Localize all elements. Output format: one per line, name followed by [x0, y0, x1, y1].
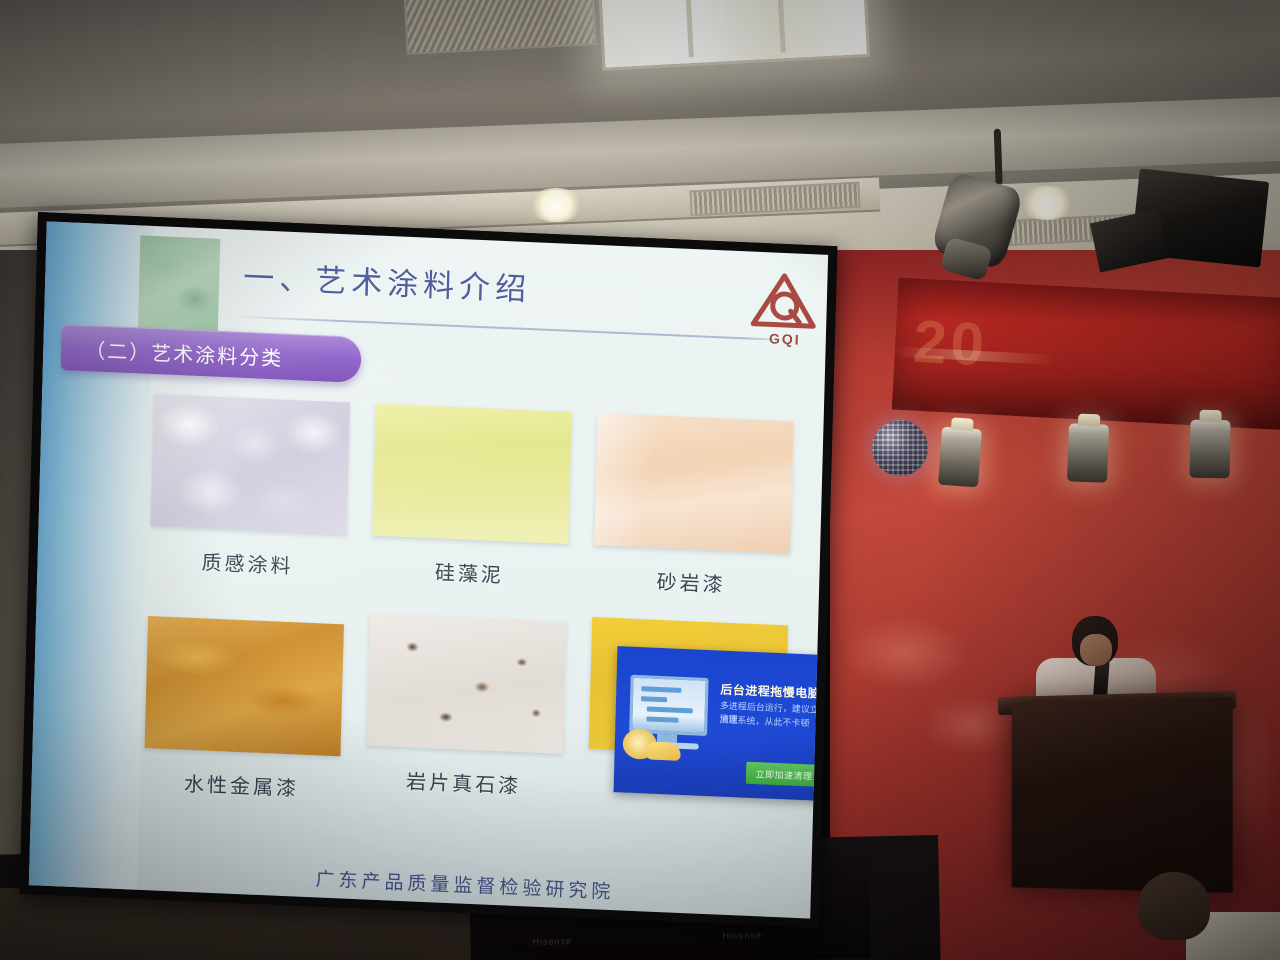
grid-item-0: 质感涂料 [149, 394, 350, 581]
diatom-mud-swatch [372, 404, 571, 544]
banner-text: 20 [912, 307, 990, 380]
slide-left-accent-strip [29, 221, 155, 889]
grid-item-1-label: 硅藻泥 [371, 554, 568, 591]
grid-item-3-label: 水性金属漆 [143, 766, 340, 803]
popup-headline: 后台进程拖慢电脑速度 [720, 681, 828, 703]
sandstone-paint-swatch [594, 413, 793, 553]
stage-spotlight-1 [938, 427, 982, 488]
gqi-triangle-q-icon [750, 272, 817, 331]
stage-spotlight-3 [1189, 420, 1230, 479]
popup-cta-button[interactable]: 立即加速清理 [746, 762, 823, 787]
slide-title: 一、艺术涂料介绍 [243, 252, 532, 309]
monitor-brand-left: Hisense [532, 936, 572, 947]
grid-item-3: 水性金属漆 [143, 616, 344, 803]
gqi-logo: GQI [743, 271, 827, 356]
gqi-logo-text: GQI [744, 329, 826, 348]
grid-item-2-label: 砂岩漆 [593, 563, 790, 600]
presenter-face [1080, 634, 1112, 666]
par-can-stage-light [1131, 168, 1269, 267]
ceiling-downlight-1 [528, 188, 584, 222]
podium [1012, 697, 1233, 893]
grid-item-4-label: 岩片真石漆 [365, 763, 562, 800]
texture-paint-swatch [151, 394, 350, 534]
stone-chip-paint-swatch [367, 614, 566, 754]
popup-illustration [620, 672, 718, 770]
monitor-icon [629, 675, 709, 736]
popup-ad[interactable]: ✕ 后台进程拖慢电脑速度 多进程后台运行，建议立即清理 加速系统，从此不卡顿 [614, 646, 829, 801]
metallic-paint-swatch [145, 616, 344, 756]
snail-body [646, 741, 680, 760]
red-event-banner: 20 [892, 278, 1280, 431]
grid-item-1: 硅藻泥 [371, 404, 572, 591]
monitor-brand-right: Hisense [722, 930, 762, 941]
grid-item-2: 砂岩漆 [593, 413, 794, 600]
disco-ball [872, 420, 928, 476]
stage-spotlight-2 [1067, 423, 1109, 482]
presentation-slide: 一、艺术涂料介绍 GQI （二）艺术涂料分类 质感涂料 [29, 221, 828, 918]
audience-member-head [1138, 872, 1210, 940]
grid-item-4: 岩片真石漆 [365, 614, 566, 801]
projection-screen: 一、艺术涂料介绍 GQI （二）艺术涂料分类 质感涂料 [20, 212, 838, 928]
grid-item-0-label: 质感涂料 [149, 544, 346, 581]
photo-scene: 20 Hisense Hisense 一、艺术涂料介绍 [0, 0, 1280, 960]
